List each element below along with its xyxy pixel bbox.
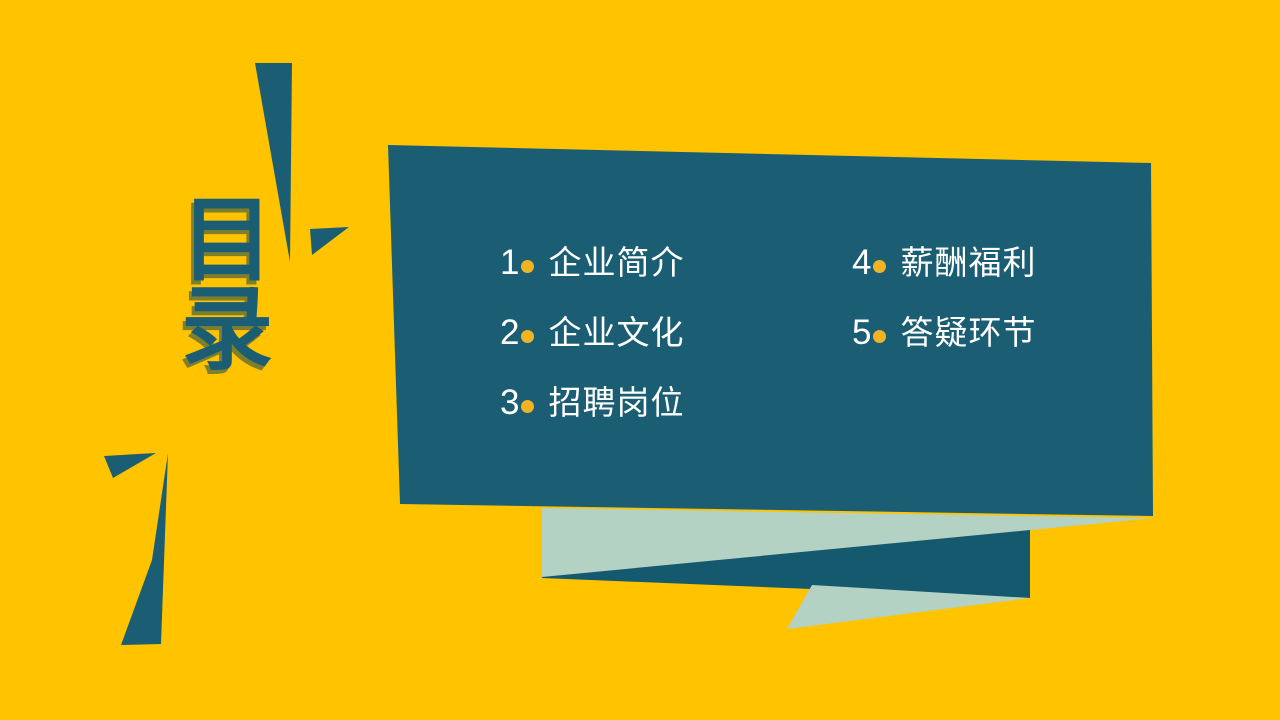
agenda-item-2[interactable]: 2 企业文化 xyxy=(500,297,852,367)
agenda-item-1-label: 企业简介 xyxy=(548,246,684,279)
agenda-item-3[interactable]: 3 招聘岗位 xyxy=(500,367,852,437)
page-title: 目 录 xyxy=(168,196,288,374)
gold-dot-icon xyxy=(873,260,886,273)
agenda-item-3-number: 3 xyxy=(500,385,519,420)
bottom-small-triangle-shape xyxy=(104,453,156,478)
slide-canvas: 目 录 1 企业简介 4 薪酬福利 2 企业文化 xyxy=(0,0,1280,720)
agenda-item-5[interactable]: 5 答疑环节 xyxy=(852,297,1204,367)
agenda-item-1-number: 1 xyxy=(500,245,519,280)
agenda-list: 1 企业简介 4 薪酬福利 2 企业文化 5 答疑环节 xyxy=(388,145,1154,517)
page-title-char-2: 录 xyxy=(168,285,288,374)
page-title-char-1: 目 xyxy=(168,196,288,285)
agenda-item-3-label: 招聘岗位 xyxy=(548,386,684,419)
agenda-item-4[interactable]: 4 薪酬福利 xyxy=(852,227,1204,297)
bottom-spike-shape xyxy=(121,453,168,645)
agenda-item-2-label: 企业文化 xyxy=(548,316,684,349)
gold-dot-icon xyxy=(521,400,534,413)
agenda-panel: 1 企业简介 4 薪酬福利 2 企业文化 5 答疑环节 xyxy=(388,145,1154,517)
gold-dot-icon xyxy=(873,330,886,343)
agenda-item-2-number: 2 xyxy=(500,315,519,350)
top-small-triangle-shape xyxy=(310,227,349,255)
agenda-item-5-number: 5 xyxy=(852,315,871,350)
agenda-item-5-label: 答疑环节 xyxy=(900,316,1036,349)
gold-dot-icon xyxy=(521,260,534,273)
agenda-item-1[interactable]: 1 企业简介 xyxy=(500,227,852,297)
gold-dot-icon xyxy=(521,330,534,343)
agenda-item-4-label: 薪酬福利 xyxy=(900,246,1036,279)
agenda-item-4-number: 4 xyxy=(852,245,871,280)
